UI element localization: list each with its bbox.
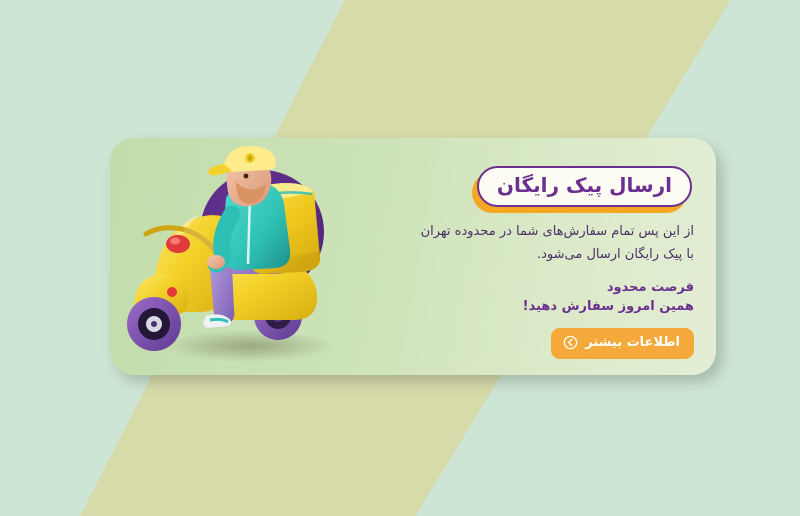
body-line-1: از این پس تمام سفارش‌های شما در محدوده ت… <box>394 221 694 244</box>
urgency-line-1: فرصت محدود <box>382 278 694 298</box>
banner-body-text: از این پس تمام سفارش‌های شما در محدوده ت… <box>394 221 694 267</box>
more-info-label: اطلاعات بیشتر <box>585 334 680 352</box>
circle-chevron-left-icon <box>563 335 578 350</box>
promo-banner-card[interactable]: ارسال پیک رایگان از این پس تمام سفارش‌ها… <box>110 138 716 375</box>
urgency-line-2: همین امروز سفارش دهید! <box>382 297 694 317</box>
body-line-2: با پیک رایگان ارسال می‌شود. <box>394 244 694 267</box>
urgency-message: فرصت محدود همین امروز سفارش دهید! <box>382 278 694 317</box>
headlight <box>166 235 190 253</box>
more-info-button[interactable]: اطلاعات بیشتر <box>551 328 694 359</box>
courier-scooter-illustration <box>110 138 410 375</box>
headline-badge-title: ارسال پیک رایگان <box>477 166 692 207</box>
headline-badge: ارسال پیک رایگان <box>477 166 692 207</box>
rider-hand <box>207 255 225 269</box>
front-wheel <box>127 297 181 351</box>
ground-shadow <box>164 330 336 362</box>
banner-copy-column: ارسال پیک رایگان از این پس تمام سفارش‌ها… <box>382 156 694 359</box>
body-badge <box>167 287 177 297</box>
